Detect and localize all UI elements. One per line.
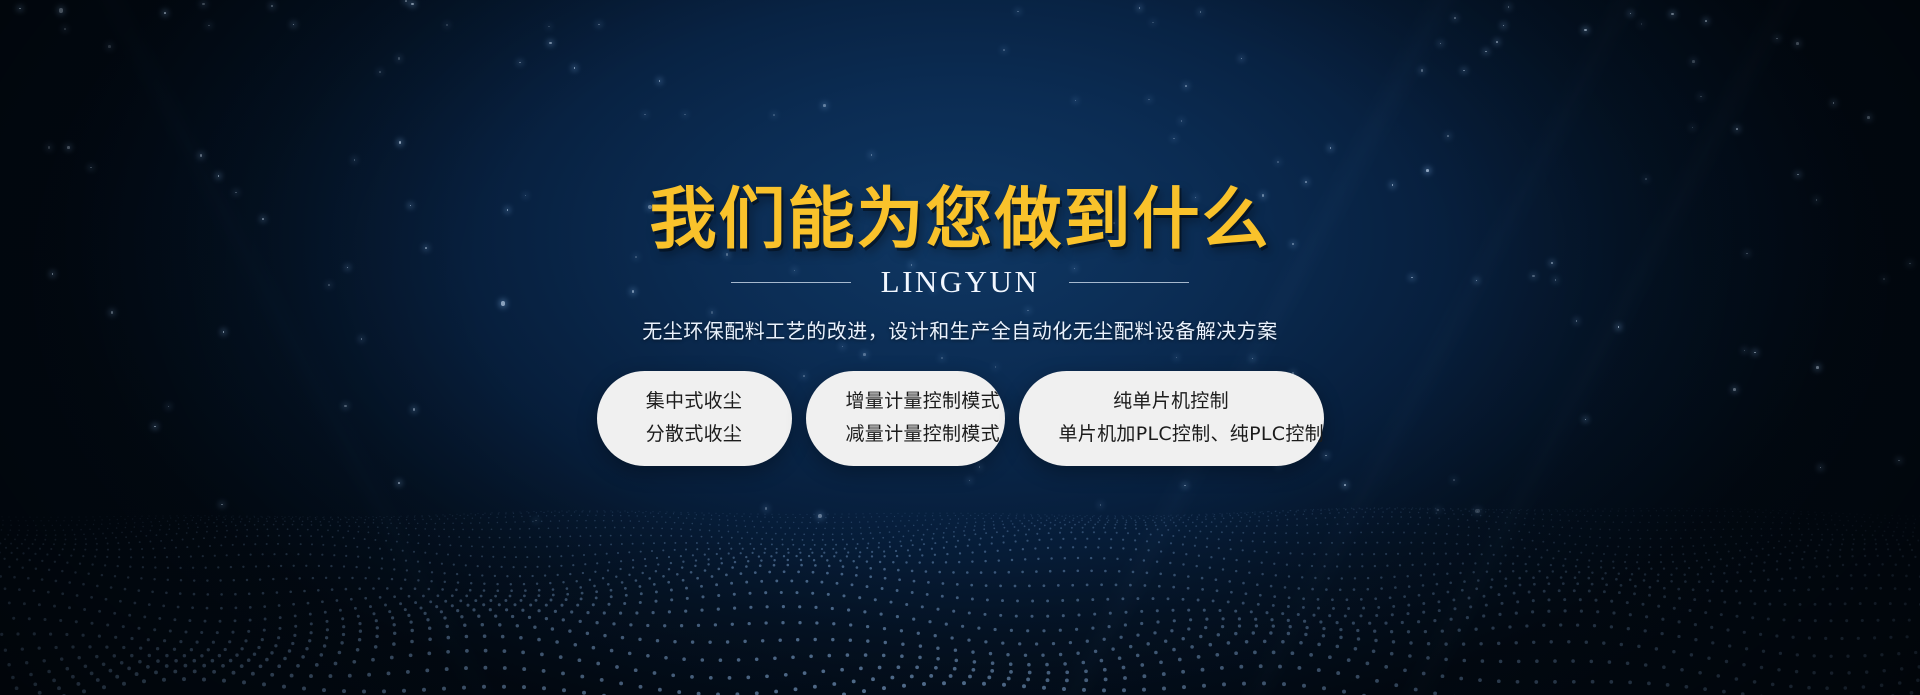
feature-card-line: 减量计量控制模式: [846, 424, 965, 445]
feature-card-line: 纯单片机控制: [1059, 391, 1284, 412]
feature-card-line: 单片机加PLC控制、纯PLC控制: [1059, 424, 1284, 445]
wave-grid-decoration: [0, 495, 1920, 695]
brand-row: LINGYUN: [0, 264, 1920, 300]
brand-divider-right: [1069, 282, 1189, 283]
brand-divider-left: [731, 282, 851, 283]
feature-card-list: 集中式收尘 分散式收尘 增量计量控制模式 减量计量控制模式 纯单片机控制 单片机…: [0, 371, 1920, 466]
page-subtitle: 无尘环保配料工艺的改进，设计和生产全自动化无尘配料设备解决方案: [0, 315, 1920, 344]
feature-card-line: 增量计量控制模式: [846, 391, 965, 412]
feature-card[interactable]: 增量计量控制模式 减量计量控制模式: [806, 371, 1005, 466]
feature-card[interactable]: 集中式收尘 分散式收尘: [597, 371, 792, 466]
brand-name: LINGYUN: [881, 264, 1040, 300]
hero-content: 我们能为您做到什么 LINGYUN 无尘环保配料工艺的改进，设计和生产全自动化无…: [0, 0, 1920, 466]
feature-card[interactable]: 纯单片机控制 单片机加PLC控制、纯PLC控制: [1019, 371, 1324, 466]
hero-banner: 我们能为您做到什么 LINGYUN 无尘环保配料工艺的改进，设计和生产全自动化无…: [0, 0, 1920, 695]
feature-card-line: 分散式收尘: [637, 424, 752, 445]
page-title: 我们能为您做到什么: [0, 182, 1920, 256]
feature-card-line: 集中式收尘: [637, 391, 752, 412]
